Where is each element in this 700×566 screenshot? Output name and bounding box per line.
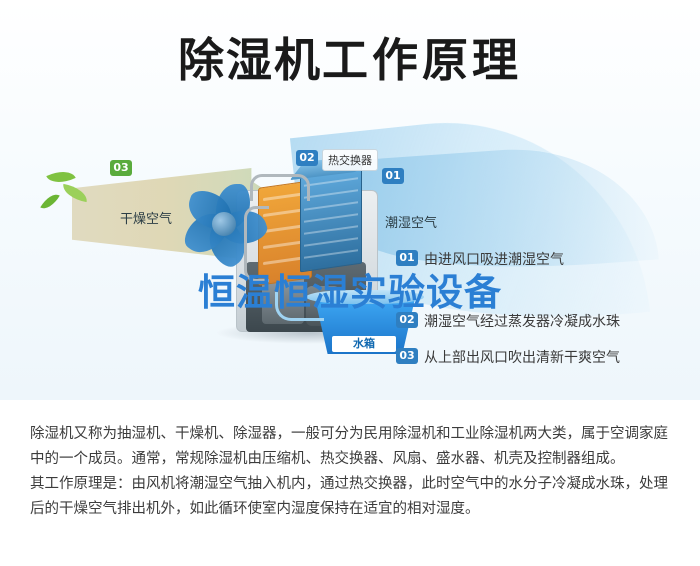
badge-02-hx: 02 xyxy=(296,150,318,166)
description-paragraph-1: 除湿机又称为抽湿机、干燥机、除湿器，一般可分为民用除湿机和工业除湿机两大类，属于… xyxy=(30,422,675,472)
description-block: 除湿机又称为抽湿机、干燥机、除湿器，一般可分为民用除湿机和工业除湿机两大类，属于… xyxy=(0,400,700,566)
badge-03-left: 03 xyxy=(110,160,132,176)
page-title: 除湿机工作原理 xyxy=(0,24,700,90)
page-root: 水箱 03 02 01 热交换器 干燥空气 潮湿空气 01 由进风口吸进潮湿空气… xyxy=(0,0,700,566)
diagram-illustration: 水箱 03 02 01 热交换器 干燥空气 潮湿空气 01 由进风口吸进潮湿空气… xyxy=(0,0,700,400)
badge-01-intake: 01 xyxy=(382,168,404,184)
watermark-text: 恒温恒湿实验设备 xyxy=(0,262,700,316)
fan-hub xyxy=(212,212,236,236)
label-dry-air: 干燥空气 xyxy=(120,208,172,227)
description-paragraph-2: 其工作原理是：由风机将潮湿空气抽入机内，通过热交换器，此时空气中的水分子冷凝成水… xyxy=(30,472,675,522)
tag-water-tank: 水箱 xyxy=(332,336,396,352)
label-humid-air: 潮湿空气 xyxy=(385,212,437,231)
tag-heat-exchanger: 热交换器 xyxy=(322,149,378,171)
page-title-part1: 除湿机 xyxy=(178,33,322,87)
refrigerant-pipe-1 xyxy=(250,174,310,201)
page-title-part2: 工作原理 xyxy=(322,33,522,87)
step-badge-03: 03 xyxy=(396,348,418,364)
step-text-03: 从上部出风口吹出清新干爽空气 xyxy=(424,347,620,367)
